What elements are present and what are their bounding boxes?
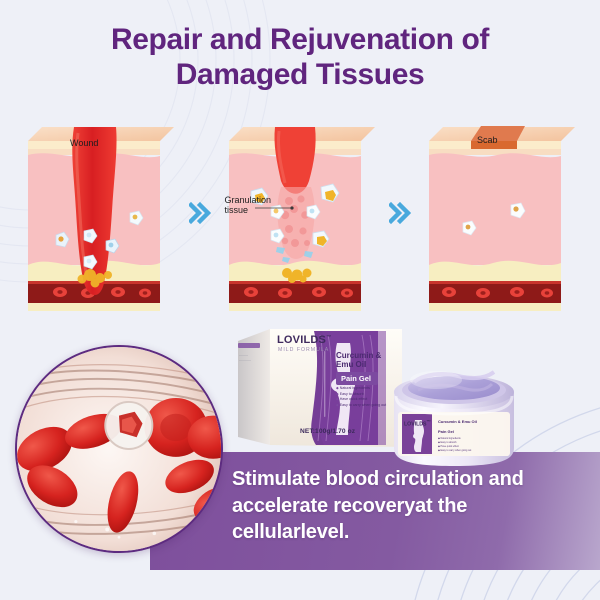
jar-benefit-list: ◆ Natural ingredients ◆ Easy to absorb ◆… [438, 437, 471, 452]
product-box-side-chip [238, 343, 260, 348]
stage-panel-granulation: Granulation tissue [219, 115, 382, 311]
stage-panel-wound: Wound [18, 115, 181, 311]
page-title: Repair and Rejuvenation of Damaged Tissu… [0, 22, 600, 93]
skin-cross-section-scab [419, 115, 582, 311]
stage-label-wound: Wound [70, 138, 98, 148]
benefit-banner-text: Stimulate blood circulation and accelera… [232, 466, 582, 546]
product-net-weight: NET:100g/1.70 oz [300, 428, 355, 435]
product-jar-label: LOVILDS™ Curcumin & Emu Oil Pain Gel ◆ N… [400, 416, 504, 456]
title-line-2: Damaged Tissues [0, 57, 600, 92]
product-benefit-list: ◆ Natural ingredients ◆ Easy to absorb ◆… [336, 386, 396, 408]
jar-product-type: Pain Gel [438, 429, 454, 434]
stage-label-granulation: Granulation tissue [225, 195, 272, 216]
product-box: LOVILDS™ MILD FORMULA Curcumin & Emu Oil… [236, 327, 404, 451]
stage-arrow-2 [389, 200, 411, 226]
stage-panel-scab: Scab [419, 115, 582, 311]
blood-circulation-image [15, 345, 223, 553]
jar-brand: LOVILDS™ [404, 419, 431, 428]
title-line-1: Repair and Rejuvenation of [111, 23, 489, 56]
wound-healing-stages: Wound [18, 113, 582, 313]
jar-product-name: Curcumin & Emu Oil [438, 419, 477, 424]
stage-label-scab: Scab [477, 135, 498, 145]
product-box-front-face: LOVILDS™ MILD FORMULA Curcumin & Emu Oil… [272, 329, 400, 447]
double-chevron-right-icon [189, 200, 211, 226]
double-chevron-right-icon [389, 200, 411, 226]
product-box-side-text: ——————— [239, 353, 251, 364]
product-type-badge: Pain Gel [336, 372, 378, 385]
product-brand: LOVILDS™ [277, 334, 331, 346]
product-jar: LOVILDS™ Curcumin & Emu Oil Pain Gel ◆ N… [388, 352, 520, 468]
product-formula-label: MILD FORMULA [278, 347, 329, 353]
skin-cross-section-wound [18, 115, 181, 311]
stage-arrow-1 [189, 200, 211, 226]
